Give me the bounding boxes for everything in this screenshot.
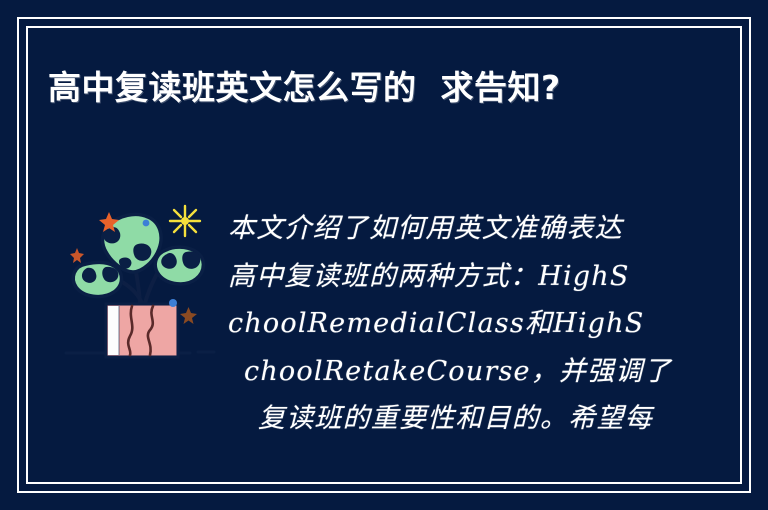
sparkle-orange-small (70, 248, 84, 263)
sparkle-blue-dot-top (143, 220, 150, 227)
summary-line-3: choolRemedialClass和HighS (228, 300, 660, 348)
title-text: 高中复读班英文怎么写的 求告知? (48, 62, 708, 114)
article-summary: 本文介绍了如何用英文准确表达 高中复读班的两种方式：HighS choolRem… (228, 205, 660, 443)
sparkle-blue-dot-lower (169, 299, 177, 307)
summary-line-5: 复读班的重要性和目的。希望每 (228, 395, 660, 443)
leaf-right (155, 247, 203, 284)
potted-plant-illustration (62, 186, 234, 376)
summary-line-2: 高中复读班的两种方式：HighS (228, 253, 660, 301)
sparkle-brown-star (180, 307, 197, 324)
sparkle-yellow-burst (170, 206, 200, 236)
article-cover-card: 高中复读班英文怎么写的 求告知? (0, 0, 768, 510)
page-title: 高中复读班英文怎么写的 求告知? (48, 62, 708, 114)
summary-line-4: choolRetakeCourse，并强调了 (228, 348, 660, 396)
summary-line-1: 本文介绍了如何用英文准确表达 (228, 205, 660, 253)
potted-plant-svg (62, 186, 234, 376)
leaf-left (73, 262, 121, 296)
flower-pot (106, 304, 178, 357)
